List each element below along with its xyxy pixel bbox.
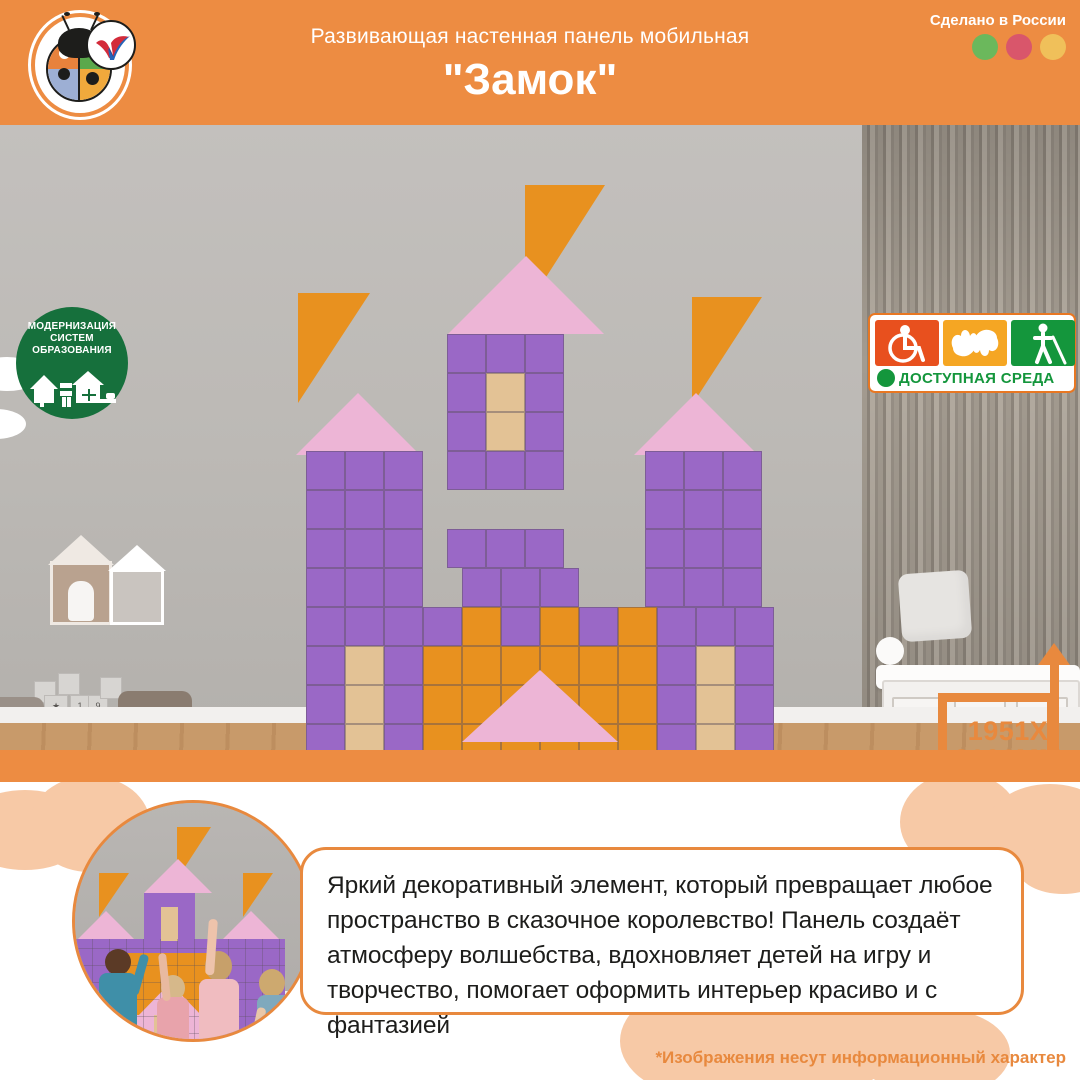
tile: [306, 685, 345, 724]
tile: [723, 490, 762, 529]
tile: [579, 607, 618, 646]
castle-wall-panel: [0, 125, 1080, 750]
child-1-leg-r: [121, 1031, 135, 1042]
tile: [384, 451, 423, 490]
tile: [735, 724, 774, 750]
wheelchair-icon: [875, 320, 939, 366]
child-2-leg-l: [159, 1041, 172, 1042]
roof-right: [634, 393, 758, 455]
tile: [447, 451, 486, 490]
tile: [447, 412, 486, 451]
tile: [486, 334, 525, 373]
badge-line-2: СИСТЕМ: [16, 333, 128, 345]
tile: [645, 451, 684, 490]
checkmark-badge-icon: [86, 20, 136, 70]
tile: [423, 685, 462, 724]
color-dots: [972, 34, 1066, 60]
tile: [723, 568, 762, 607]
ladybug-logo: [24, 6, 142, 120]
tile: [306, 646, 345, 685]
tile: [423, 646, 462, 685]
tile: [306, 451, 345, 490]
spot-black-2: [86, 72, 99, 85]
sign-language-icon: [943, 320, 1007, 366]
tile: [384, 646, 423, 685]
tile: [501, 568, 540, 607]
tile: [486, 373, 525, 412]
tile: [684, 490, 723, 529]
tile: [447, 334, 486, 373]
tile: [657, 646, 696, 685]
tile: [384, 685, 423, 724]
tile: [723, 529, 762, 568]
description-text: Яркий декоративный элемент, который прев…: [327, 868, 997, 1043]
mini-roof-left: [78, 911, 134, 939]
tile: [525, 373, 564, 412]
accessible-environment-label: ДОСТУПНАЯ СРЕДА: [899, 370, 1055, 387]
tile: [618, 724, 657, 750]
tile: [696, 646, 735, 685]
child-4-toy-block: [245, 1027, 257, 1042]
tile: [345, 490, 384, 529]
tile: [384, 529, 423, 568]
child-4-head: [259, 969, 285, 997]
tile: [306, 490, 345, 529]
dot-yellow: [1040, 34, 1066, 60]
tile: [684, 451, 723, 490]
tile: [345, 685, 384, 724]
tile: [423, 607, 462, 646]
tile: [384, 607, 423, 646]
tile: [423, 724, 462, 750]
tile: [684, 529, 723, 568]
dot-green: [972, 34, 998, 60]
tile: [657, 724, 696, 750]
tile: [540, 568, 579, 607]
antenna-tip-left-icon: [64, 12, 70, 16]
tile: [345, 568, 384, 607]
orange-divider-bar: [0, 750, 1080, 782]
page-title: "Замок": [180, 55, 880, 105]
tile: [345, 451, 384, 490]
tile: [345, 607, 384, 646]
dimension-line-1: 1951X: [940, 717, 1076, 745]
tile: [645, 568, 684, 607]
tile: [618, 607, 657, 646]
tile: [525, 334, 564, 373]
tile: [540, 607, 579, 646]
badge-line-3: ОБРАЗОВАНИЯ: [16, 345, 128, 357]
tile: [645, 529, 684, 568]
tile: [696, 607, 735, 646]
flag-right: [692, 297, 762, 405]
roof-left: [296, 393, 420, 455]
tile: [447, 529, 486, 568]
tile: [486, 529, 525, 568]
gate-arch: [462, 670, 618, 742]
tile: [525, 412, 564, 451]
mini-ladybug-icon: [877, 369, 895, 387]
accessibility-label-row: ДОСТУПНАЯ СРЕДА: [875, 369, 1069, 387]
page-header: Развивающая настенная панель мобильная "…: [0, 0, 1080, 125]
header-subtitle: Развивающая настенная панель мобильная: [180, 25, 880, 49]
tile: [306, 568, 345, 607]
dot-red: [1006, 34, 1032, 60]
tile: [684, 568, 723, 607]
school-building-icon: [26, 363, 118, 407]
tile: [645, 490, 684, 529]
tile: [384, 490, 423, 529]
tile: [384, 568, 423, 607]
tile: [306, 607, 345, 646]
tile: [345, 724, 384, 750]
tile: [657, 685, 696, 724]
tile: [486, 412, 525, 451]
accessibility-icon-row: [875, 320, 1069, 366]
tile: [723, 451, 762, 490]
tile: [447, 373, 486, 412]
tile: [462, 568, 501, 607]
child-1-leg-l: [101, 1031, 115, 1042]
tile: [384, 724, 423, 750]
tile: [618, 685, 657, 724]
flag-left: [298, 293, 370, 403]
tile: [306, 529, 345, 568]
modernization-badge: МОДЕРНИЗАЦИЯ СИСТЕМ ОБРАЗОВАНИЯ: [16, 307, 128, 419]
tile: [525, 529, 564, 568]
roof-center: [448, 256, 604, 334]
disclaimer-text: *Изображения несут информационный характ…: [655, 1048, 1066, 1068]
tile: [501, 607, 540, 646]
product-photo-scene: ★ 1 9: [0, 125, 1080, 750]
tile: [345, 529, 384, 568]
badge-line-1: МОДЕРНИЗАЦИЯ: [16, 321, 128, 333]
tile: [735, 646, 774, 685]
tile: [525, 451, 564, 490]
description-card: Яркий декоративный элемент, который прев…: [300, 847, 1024, 1015]
bottom-section: Яркий декоративный элемент, который прев…: [0, 782, 1080, 1080]
tile: [345, 646, 384, 685]
mini-roof-center: [144, 859, 212, 893]
tile: [306, 724, 345, 750]
tile: [735, 607, 774, 646]
child-1-head: [105, 949, 131, 975]
tile: [735, 685, 774, 724]
spot-black-1: [58, 68, 70, 80]
tile: [657, 607, 696, 646]
child-2-leg-r: [175, 1041, 188, 1042]
child-3-body: [199, 979, 239, 1042]
children-playing-photo: [72, 800, 314, 1042]
accessible-environment-badge: ДОСТУПНАЯ СРЕДА: [868, 313, 1076, 393]
child-2-body: [157, 997, 189, 1042]
tile: [696, 724, 735, 750]
mini-tower-window: [161, 907, 178, 941]
blind-cane-icon: [1011, 320, 1075, 366]
dimension-text: 1951X 2101MM: [940, 717, 1076, 750]
mini-roof-right: [223, 911, 279, 939]
tile: [696, 685, 735, 724]
tile: [462, 607, 501, 646]
antenna-tip-right-icon: [94, 12, 100, 16]
made-in-russia-label: Сделано в России: [930, 12, 1066, 29]
tile: [618, 646, 657, 685]
tile: [486, 451, 525, 490]
